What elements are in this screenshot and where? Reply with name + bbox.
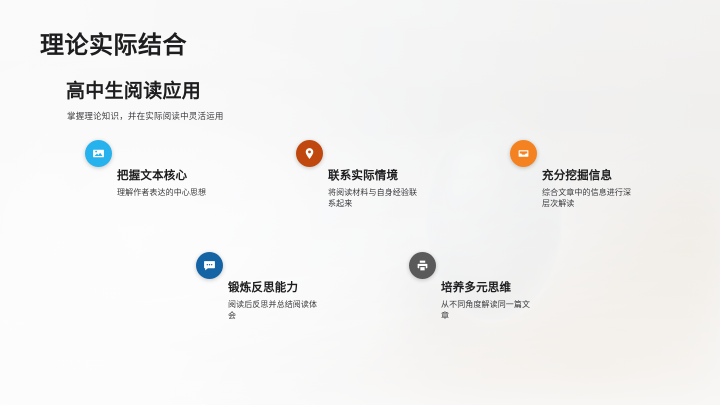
inbox-icon — [510, 140, 537, 167]
slide-title: 理论实际结合 — [40, 25, 187, 60]
location-pin-icon — [296, 140, 323, 167]
feature-item[interactable]: 充分挖掘信息 综合文章中的信息进行深层次解读 — [542, 167, 712, 210]
slide-content: 理论实际结合 高中生阅读应用 掌握理论知识，并在实际阅读中灵活运用 把握文本核心… — [0, 0, 720, 405]
feature-item[interactable]: 联系实际情境 将阅读材料与自身经验联系起来 — [328, 167, 498, 210]
feature-title: 充分挖掘信息 — [542, 167, 712, 183]
feature-title: 锻炼反思能力 — [228, 279, 398, 295]
feature-description: 阅读后反思并总结阅读体会 — [228, 299, 324, 322]
printer-icon — [409, 252, 436, 279]
feature-description: 理解作者表达的中心思想 — [117, 187, 213, 198]
chat-bubble-icon — [196, 252, 223, 279]
feature-description: 从不同角度解读同一篇文章 — [441, 299, 537, 322]
feature-title: 联系实际情境 — [328, 167, 498, 183]
section-title: 高中生阅读应用 — [66, 76, 201, 103]
section-description: 掌握理论知识，并在实际阅读中灵活运用 — [67, 110, 224, 122]
feature-title: 培养多元思维 — [441, 279, 611, 295]
feature-title: 把握文本核心 — [117, 167, 287, 183]
feature-item[interactable]: 把握文本核心 理解作者表达的中心思想 — [117, 167, 287, 198]
feature-description: 将阅读材料与自身经验联系起来 — [328, 187, 424, 210]
feature-item[interactable]: 锻炼反思能力 阅读后反思并总结阅读体会 — [228, 279, 398, 322]
slide-canvas: 理论实际结合 高中生阅读应用 掌握理论知识，并在实际阅读中灵活运用 把握文本核心… — [0, 0, 720, 405]
feature-description: 综合文章中的信息进行深层次解读 — [542, 187, 638, 210]
image-icon — [85, 140, 112, 167]
feature-item[interactable]: 培养多元思维 从不同角度解读同一篇文章 — [441, 279, 611, 322]
